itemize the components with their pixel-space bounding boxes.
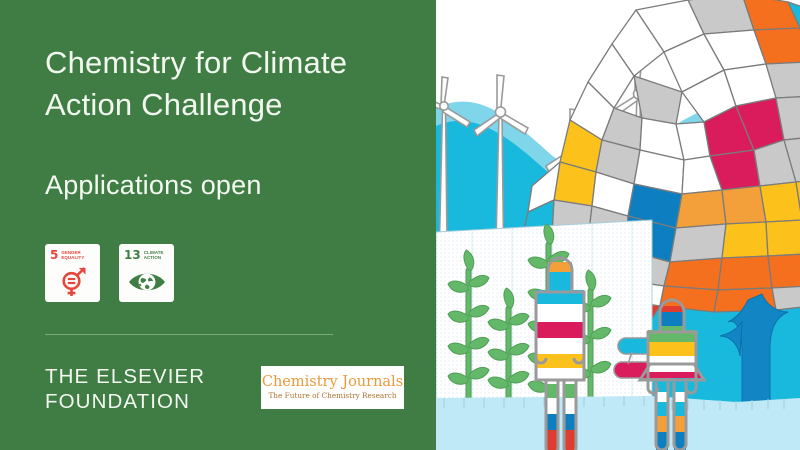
sdg-badge-header: 5 GENDER EQUALITY — [50, 250, 95, 263]
headline-line-2: Action Challenge — [45, 84, 415, 126]
sdg-badge-row: 5 GENDER EQUALITY — [45, 244, 174, 302]
sdg-label: CLIMATE ACTION — [144, 250, 164, 260]
elsevier-foundation-logo: THE ELSEVIER FOUNDATION — [45, 364, 205, 414]
sdg-label: GENDER EQUALITY — [61, 250, 84, 260]
gender-equality-icon — [50, 263, 95, 302]
sdg-badge-climate-action: 13 CLIMATE ACTION — [119, 244, 174, 302]
left-green-panel: Chemistry for Climate Action Challenge A… — [0, 0, 436, 450]
poster: Chemistry for Climate Action Challenge A… — [0, 0, 800, 450]
climate-illustration — [436, 0, 800, 450]
sdg-badge-header: 13 CLIMATE ACTION — [124, 250, 169, 265]
chemistry-journals-tagline: The Future of Chemistry Research — [268, 391, 396, 401]
sdg-label-line-2: ACTION — [144, 255, 164, 260]
chemistry-journals-badge: Chemistry Journals The Future of Chemist… — [261, 366, 404, 409]
logo-line-1: THE ELSEVIER — [45, 364, 205, 389]
climate-action-eye-globe-icon — [124, 265, 169, 302]
sdg-label-line-2: EQUALITY — [61, 255, 84, 260]
divider — [45, 334, 333, 335]
page-title: Chemistry for Climate Action Challenge — [45, 42, 415, 126]
sdg-number: 5 — [50, 250, 58, 261]
subheadline: Applications open — [45, 168, 415, 202]
sdg-badge-gender-equality: 5 GENDER EQUALITY — [45, 244, 100, 302]
logo-line-2: FOUNDATION — [45, 389, 205, 414]
sdg-number: 13 — [124, 250, 141, 261]
chemistry-journals-title: Chemistry Journals — [262, 374, 403, 390]
headline-line-1: Chemistry for Climate — [45, 42, 415, 84]
foreground-ground — [436, 396, 800, 450]
